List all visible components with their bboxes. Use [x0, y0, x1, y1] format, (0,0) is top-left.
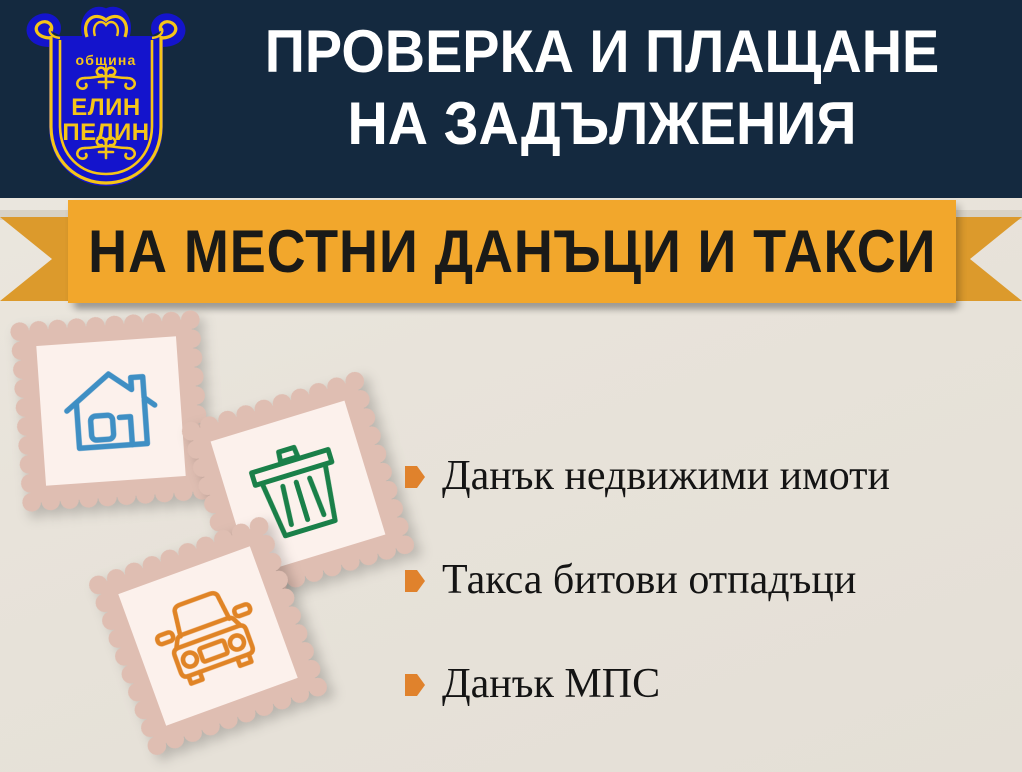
stamp-paper [36, 336, 185, 485]
list-item-label: Данък недвижими имоти [442, 453, 890, 499]
coat-of-arms-icon [23, 6, 189, 188]
ribbon-banner: НА МЕСТНИ ДАНЪЦИ И ТАКСИ [68, 200, 956, 303]
list-item[interactable]: Такса битови отпадъци [404, 528, 1010, 632]
arrow-bullet-icon [404, 464, 426, 490]
arrow-bullet-icon [404, 568, 426, 594]
house-icon [58, 363, 164, 460]
tax-type-list: Данък недвижими имоти Такса битови отпад… [404, 424, 1010, 736]
list-item[interactable]: Данък недвижими имоти [404, 424, 1010, 528]
poster-canvas: община ЕЛИН ПЕЛИН ПРОВЕРКА И ПЛАЩАНЕ НА … [0, 0, 1022, 772]
municipality-logo: община ЕЛИН ПЕЛИН [23, 6, 189, 188]
stamp-property-tax [10, 310, 213, 513]
ribbon-label: НА МЕСТНИ ДАНЪЦИ И ТАКСИ [88, 217, 936, 286]
list-item-label: Такса битови отпадъци [442, 557, 856, 603]
subtitle-ribbon: НА МЕСТНИ ДАНЪЦИ И ТАКСИ [0, 196, 1022, 314]
list-item[interactable]: Данък МПС [404, 632, 1010, 736]
car-icon [144, 578, 271, 694]
page-title-line2: НА ЗАДЪЛЖЕНИЯ [224, 88, 979, 160]
arrow-bullet-icon [404, 672, 426, 698]
list-item-label: Данък МПС [442, 661, 660, 707]
page-title: ПРОВЕРКА И ПЛАЩАНЕ НА ЗАДЪЛЖЕНИЯ [224, 16, 979, 160]
page-title-line1: ПРОВЕРКА И ПЛАЩАНЕ [224, 16, 979, 88]
